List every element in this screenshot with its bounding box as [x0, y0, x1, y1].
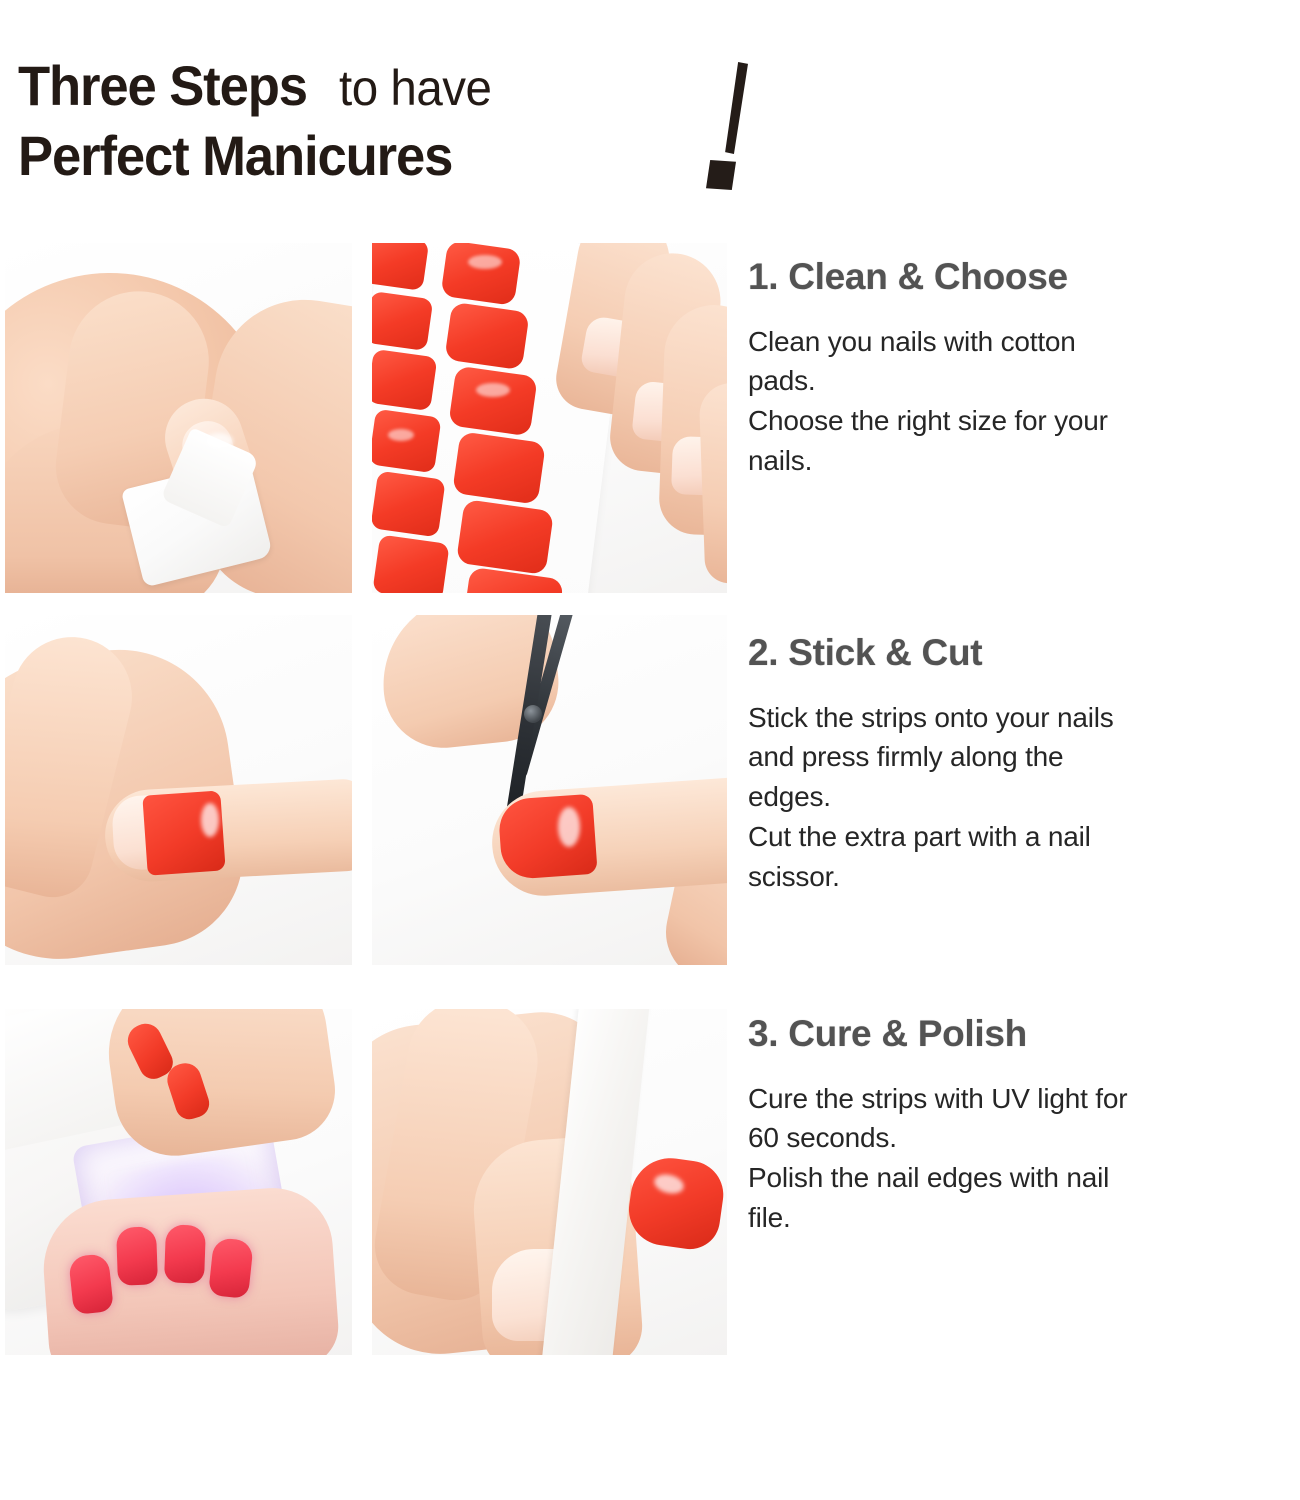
photo-clean-nails-with-cotton-pad [5, 243, 352, 593]
exclamation-mark-icon [700, 62, 770, 192]
step-2-line-3: edges. [748, 777, 1300, 817]
headline-line-1: Three Stepsto have [18, 58, 798, 114]
step-2-line-5: scissor. [748, 857, 1300, 897]
step-3-line-1: Cure the strips with UV light for [748, 1079, 1300, 1119]
photo-choose-strip-size [372, 243, 727, 593]
headline-strong-2: Perfect Manicures [18, 128, 452, 184]
photo-polish-edges-with-file [372, 1009, 727, 1355]
step-3-line-3: Polish the nail edges with nail [748, 1158, 1300, 1198]
headline-strong-1: Three Steps [18, 58, 307, 114]
step-3-title: 3. Cure & Polish [748, 1014, 1300, 1055]
photo-row-step-3 [5, 1009, 727, 1355]
photo-stick-strip-on-nail [5, 615, 352, 965]
step-2-line-2: and press firmly along the [748, 737, 1300, 777]
step-3-body: Cure the strips with UV light for 60 sec… [748, 1079, 1300, 1238]
photo-row-step-1 [5, 243, 727, 593]
exclamation-dot [706, 160, 736, 190]
step-1-body: Clean you nails with cotton pads. Choose… [748, 322, 1300, 481]
photo-cut-extra-with-scissor [372, 615, 727, 965]
step-1-line-2: pads. [748, 361, 1300, 401]
step-3-line-4: file. [748, 1198, 1300, 1238]
photo-cure-under-uv-lamp [5, 1009, 352, 1355]
photo-grid [5, 243, 727, 1355]
cured-nails-row [65, 1181, 305, 1301]
step-2-line-4: Cut the extra part with a nail [748, 817, 1300, 857]
red-nail-shape [497, 794, 597, 880]
photo-row-step-2 [5, 615, 727, 965]
step-2-title: 2. Stick & Cut [748, 633, 1300, 674]
step-1-line-4: nails. [748, 441, 1300, 481]
step-2-line-1: Stick the strips onto your nails [748, 698, 1300, 738]
headline-light-1: to have [339, 63, 491, 113]
step-1-title: 1. Clean & Choose [748, 257, 1300, 298]
headline-line-2: Perfect Manicures [18, 128, 798, 184]
step-2: 2. Stick & Cut Stick the strips onto you… [748, 633, 1300, 896]
step-1-line-3: Choose the right size for your [748, 401, 1300, 441]
step-3: 3. Cure & Polish Cure the strips with UV… [748, 1014, 1300, 1238]
step-2-body: Stick the strips onto your nails and pre… [748, 698, 1300, 897]
step-3-line-2: 60 seconds. [748, 1118, 1300, 1158]
infographic-page: Three Stepsto have Perfect Manicures [0, 0, 1300, 1500]
exclamation-bar [722, 62, 748, 154]
step-1-line-1: Clean you nails with cotton [748, 322, 1300, 362]
step-1: 1. Clean & Choose Clean you nails with c… [748, 257, 1300, 481]
page-title: Three Stepsto have Perfect Manicures [18, 58, 798, 184]
